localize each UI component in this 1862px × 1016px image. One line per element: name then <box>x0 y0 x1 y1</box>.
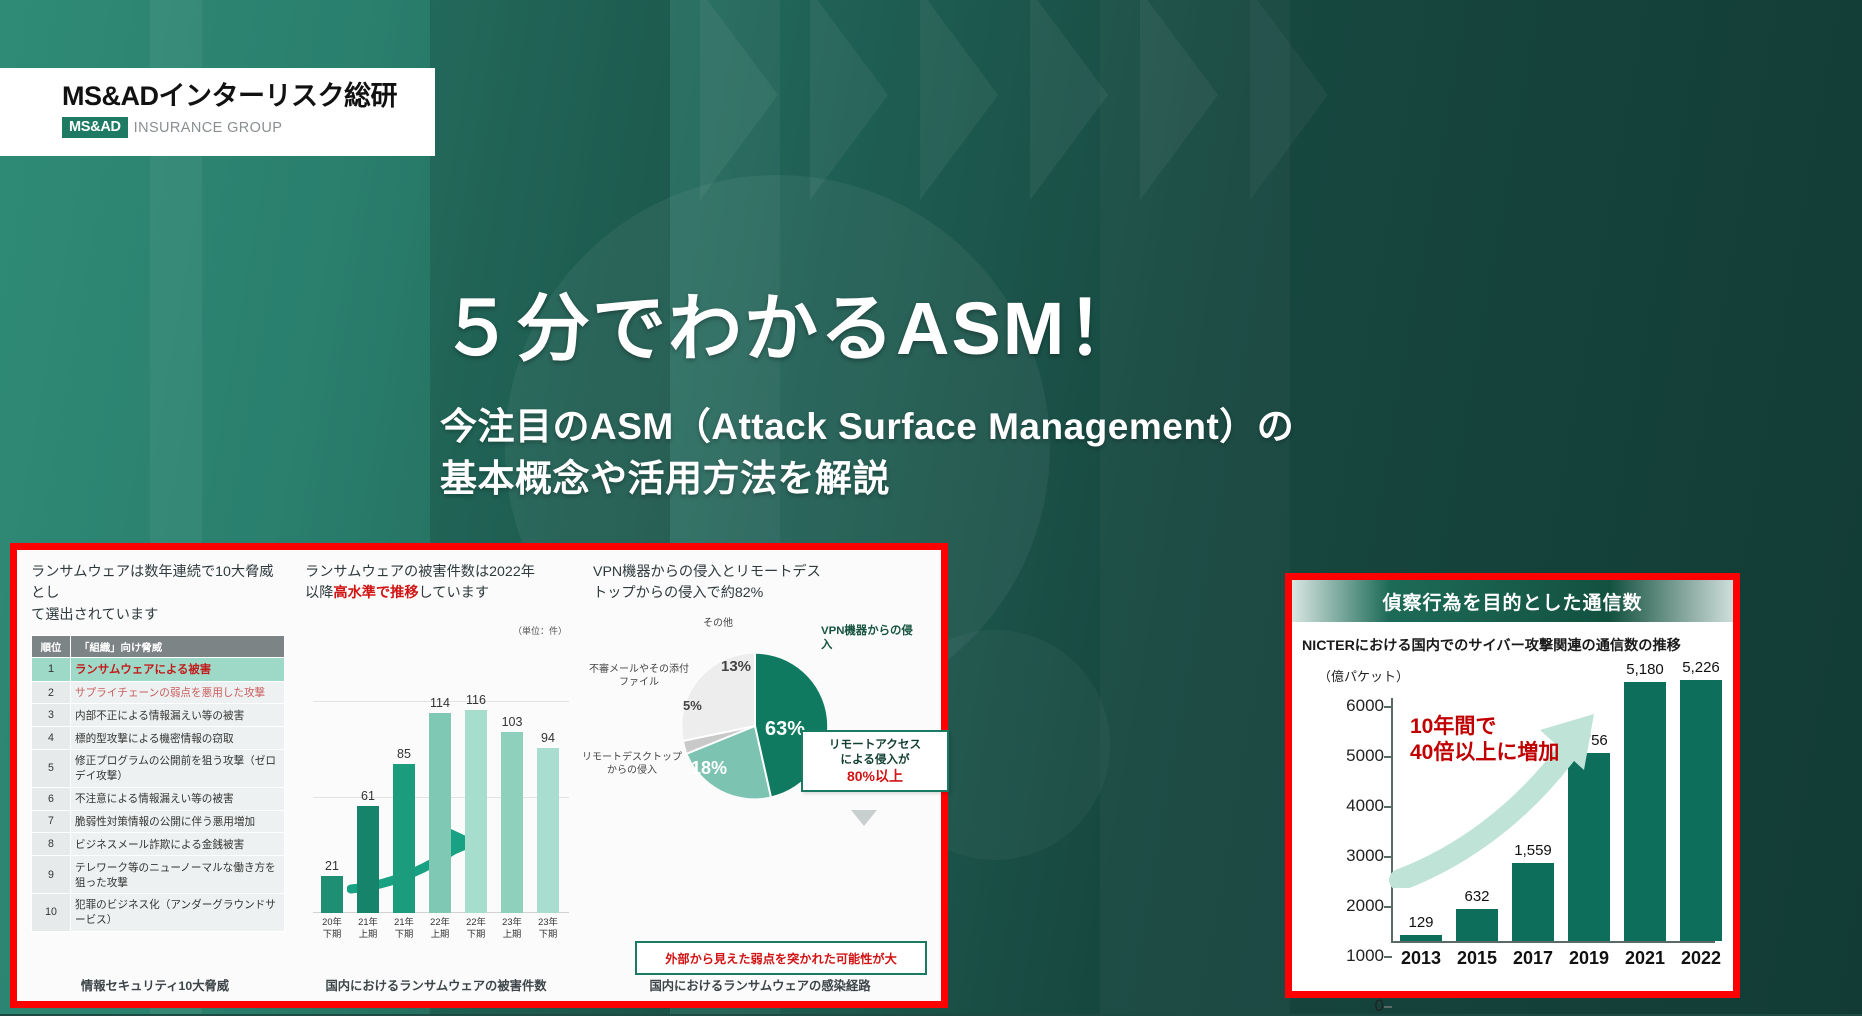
logo-subtitle: MS&AD INSURANCE GROUP <box>62 117 435 138</box>
threat-rank: 6 <box>32 787 71 810</box>
threat-name: 不注意による情報漏えい等の被害 <box>71 787 285 810</box>
threat-name: 内部不正による情報漏えい等の被害 <box>71 704 285 727</box>
nicter-bar <box>1456 909 1498 941</box>
y-axis-tick-label: 2000 <box>1346 896 1384 916</box>
bar-label: 20年下期 <box>322 917 342 940</box>
bar-label: 22年下期 <box>466 917 486 940</box>
pie-chart-plot: 63% 18% 13% 5% その他 不審メールやその添付ファイル リモートデス… <box>579 606 941 949</box>
threat-name: テレワーク等のニューノーマルな働き方を狙った攻撃 <box>71 856 285 894</box>
bar-item: 2120年下期 <box>321 876 343 913</box>
table-header-row: 順位 「組織」向け脅威 <box>32 635 285 657</box>
page-subtitle: 今注目のASM（Attack Surface Management）の 基本概念… <box>440 401 1620 506</box>
threat-name: 犯罪のビジネス化（アンダーグラウンドサービス） <box>71 893 285 931</box>
bar <box>501 732 523 913</box>
nicter-bar <box>1680 680 1722 941</box>
bar-label: 21年下期 <box>394 917 414 940</box>
bar-label: 23年上期 <box>502 917 522 940</box>
nicter-bar <box>1400 935 1442 941</box>
pie-heading: VPN機器からの侵入とリモートデス トップからの侵入で約82% <box>593 562 929 605</box>
y-axis-tick-mark <box>1384 1006 1392 1008</box>
nicter-bar-item: 1292013 <box>1400 935 1442 941</box>
callout-line1: リモートアクセス <box>811 737 939 752</box>
bar <box>429 713 451 913</box>
bar-chart-plot: 2120年下期6121年上期8521年下期11422年上期11622年下期103… <box>307 685 569 943</box>
bar-heading-line1: ランサムウェアの被害件数は2022年 <box>305 562 569 583</box>
bar <box>357 806 379 913</box>
threat-table: 順位 「組織」向け脅威 1ランサムウェアによる被害2サプライチェーンの弱点を悪用… <box>31 635 285 932</box>
nicter-bar-value: 129 <box>1408 914 1433 931</box>
nicter-bar-label: 2021 <box>1625 948 1665 969</box>
col-header-rank: 順位 <box>32 635 71 657</box>
pie-value-5: 5% <box>683 698 702 713</box>
logo-group-text: INSURANCE GROUP <box>134 120 283 136</box>
logo-title: MS&ADインターリスク総研 <box>62 82 435 110</box>
chevron-decor-2 <box>810 0 888 200</box>
threat-rank: 8 <box>32 833 71 856</box>
bar-label: 22年上期 <box>430 917 450 940</box>
bar-item: 11622年下期 <box>465 710 487 913</box>
pie-label-rdp: リモートデスクトップからの侵入 <box>579 752 685 777</box>
pie-value-63: 63% <box>765 718 805 741</box>
table-row: 10犯罪のビジネス化（アンダーグラウンドサービス） <box>32 893 285 931</box>
headline-block: ５分でわかるASM！ 今注目のASM（Attack Surface Manage… <box>440 288 1620 506</box>
bar-label: 23年下期 <box>538 917 558 940</box>
table-row: 3内部不正による情報漏えい等の被害 <box>32 704 285 727</box>
nicter-header-text: 偵察行為を目的とした通信数 <box>1382 588 1642 615</box>
threat-heading-line1: ランサムウェアは数年連続で10大脅威とし <box>31 562 285 605</box>
threat-name: 標的型攻撃による機密情報の窃取 <box>71 727 285 750</box>
threat-rank: 1 <box>32 657 71 681</box>
page-subtitle-line1: 今注目のASM（Attack Surface Management）の <box>440 401 1620 454</box>
table-row: 2サプライチェーンの弱点を悪用した攻撃 <box>32 681 285 704</box>
nicter-bar-item: 6322015 <box>1456 909 1498 941</box>
bar-heading-post: しています <box>419 585 490 601</box>
nicter-header: 偵察行為を目的とした通信数 <box>1292 580 1733 622</box>
bar-heading-line2: 以降高水準で推移しています <box>305 583 569 604</box>
col-header-threat: 「組織」向け脅威 <box>71 635 285 657</box>
threat-rank: 4 <box>32 727 71 750</box>
nicter-bar-label: 2022 <box>1681 948 1721 969</box>
bar-value: 21 <box>325 859 339 873</box>
nicter-bar-value: 5,180 <box>1626 661 1664 678</box>
y-axis-tick-mark <box>1384 906 1392 908</box>
nicter-bar-value: 632 <box>1464 888 1489 905</box>
infection-route-pie-column: VPN機器からの侵入とリモートデス トップからの侵入で約82% 63% 18% <box>579 550 941 1001</box>
threat-caption: 情報セキュリティ10大脅威 <box>17 976 293 994</box>
y-axis-tick-label: 4000 <box>1346 796 1384 816</box>
bar-heading-pre: 以降 <box>305 585 333 601</box>
threat-rank: 10 <box>32 893 71 931</box>
threat-name: 脆弱性対策情報の公開に伴う悪用増加 <box>71 810 285 833</box>
nicter-bar-label: 2013 <box>1401 948 1441 969</box>
bar-value: 114 <box>430 696 450 710</box>
threat-heading-line2: て選出されています <box>31 605 285 626</box>
pie-label-vpn: VPN機器からの侵入 <box>821 624 917 653</box>
chevron-decor-3 <box>920 0 998 200</box>
bar-value: 103 <box>502 715 523 729</box>
table-row: 9テレワーク等のニューノーマルな働き方を狙った攻撃 <box>32 856 285 894</box>
remote-access-callout: リモートアクセス による侵入が 80%以上 <box>801 730 949 792</box>
infographic-panel: ランサムウェアは数年連続で10大脅威とし て選出されています 順位 「組織」向け… <box>10 543 948 1008</box>
threat-ranking-column: ランサムウェアは数年連続で10大脅威とし て選出されています 順位 「組織」向け… <box>17 550 293 1001</box>
pie-heading-line1: VPN機器からの侵入とリモートデス <box>593 562 929 583</box>
weakness-callout: 外部から見えた弱点を突かれた可能性が大 <box>635 941 927 975</box>
nicter-annotation-line2: 40倍以上に増加 <box>1410 740 1559 766</box>
pie-chart-caption: 国内におけるランサムウェアの感染経路 <box>579 976 941 994</box>
threat-heading: ランサムウェアは数年連続で10大脅威とし て選出されています <box>31 562 285 626</box>
bar-heading-highlight: 高水準で推移 <box>333 585 418 601</box>
bar <box>465 710 487 913</box>
bar <box>393 764 415 913</box>
threat-name: ビジネスメール詐欺による金銭被害 <box>71 833 285 856</box>
table-row: 8ビジネスメール詐欺による金銭被害 <box>32 833 285 856</box>
nicter-bar-label: 2015 <box>1457 948 1497 969</box>
threat-rank: 3 <box>32 704 71 727</box>
nicter-bar-label: 2017 <box>1513 948 1553 969</box>
pie-label-other: その他 <box>703 618 733 631</box>
y-axis-tick-label: 0 <box>1375 996 1384 1016</box>
bar-unit-label: （単位：件） <box>513 624 567 637</box>
bar-value: 116 <box>466 693 486 707</box>
nicter-unit-label: （億パケット） <box>1318 666 1733 685</box>
page-subtitle-line2: 基本概念や活用方法を解説 <box>440 453 1620 506</box>
bar-item: 6121年上期 <box>357 806 379 913</box>
callout-line2: による侵入が <box>811 752 939 767</box>
y-axis-tick-mark <box>1384 956 1392 958</box>
pie-heading-line2: トップからの侵入で約82% <box>593 583 929 604</box>
table-row: 1ランサムウェアによる被害 <box>32 657 285 681</box>
bar-value: 94 <box>541 731 555 745</box>
nicter-chart-plot: 10年間で 40倍以上に増加 0100020003000400050006000… <box>1292 698 1725 981</box>
bar <box>321 876 343 913</box>
threat-name: ランサムウェアによる被害 <box>71 657 285 681</box>
y-axis-tick-label: 6000 <box>1346 696 1384 716</box>
bar-item: 11422年上期 <box>429 713 451 913</box>
nicter-subtitle: NICTERにおける国内でのサイバー攻撃関連の通信数の推移 <box>1302 635 1733 655</box>
chevron-decor-1 <box>700 0 778 200</box>
nicter-annotation: 10年間で 40倍以上に増加 <box>1410 714 1559 765</box>
table-row: 7脆弱性対策情報の公開に伴う悪用増加 <box>32 810 285 833</box>
pie-label-mail-text: 不審メールやその添付ファイル <box>589 664 689 688</box>
table-row: 5修正プログラムの公開前を狙う攻撃（ゼロデイ攻撃） <box>32 750 285 788</box>
company-logo: MS&ADインターリスク総研 MS&AD INSURANCE GROUP <box>0 68 435 156</box>
pie-label-rdp-text: リモートデスクトップからの侵入 <box>582 752 682 776</box>
bar-value: 61 <box>361 789 375 803</box>
nicter-bar-label: 2019 <box>1569 948 1609 969</box>
callout-highlight: 80%以上 <box>811 767 939 785</box>
bar-item: 10323年上期 <box>501 732 523 913</box>
chevron-decor-4 <box>1030 0 1108 200</box>
chevron-decor-6 <box>1250 0 1328 200</box>
logo-badge: MS&AD <box>62 117 128 138</box>
pie-value-18: 18% <box>691 758 727 779</box>
callout-arrow-icon <box>851 810 877 826</box>
nicter-panel: 偵察行為を目的とした通信数 NICTERにおける国内でのサイバー攻撃関連の通信数… <box>1285 573 1740 998</box>
bar <box>537 748 559 913</box>
threat-rank: 2 <box>32 681 71 704</box>
pie-value-13: 13% <box>721 658 751 675</box>
bar-item: 9423年下期 <box>537 748 559 913</box>
table-row: 4標的型攻撃による機密情報の窃取 <box>32 727 285 750</box>
pie-label-mail: 不審メールやその添付ファイル <box>585 664 693 689</box>
bar-chart-heading: ランサムウェアの被害件数は2022年 以降高水準で推移しています <box>305 562 569 605</box>
table-row: 6不注意による情報漏えい等の被害 <box>32 787 285 810</box>
threat-rank: 7 <box>32 810 71 833</box>
bar-value: 85 <box>397 747 411 761</box>
nicter-annotation-line1: 10年間で <box>1410 714 1559 740</box>
threat-name: 修正プログラムの公開前を狙う攻撃（ゼロデイ攻撃） <box>71 750 285 788</box>
nicter-x-axis <box>1391 941 1715 943</box>
threat-rank: 5 <box>32 750 71 788</box>
nicter-bar-value: 5,226 <box>1682 659 1720 676</box>
pie-label-vpn-text: VPN機器からの侵入 <box>821 625 913 651</box>
nicter-bar-item: 5,2262022 <box>1680 680 1722 941</box>
y-axis-tick-label: 3000 <box>1346 846 1384 866</box>
threat-rank: 9 <box>32 856 71 894</box>
bar-label: 21年上期 <box>358 917 378 940</box>
threat-name: サプライチェーンの弱点を悪用した攻撃 <box>71 681 285 704</box>
y-axis-tick-label: 1000 <box>1346 946 1384 966</box>
chevron-decor-5 <box>1140 0 1218 200</box>
page-title: ５分でわかるASM！ <box>440 288 1620 371</box>
ransomware-bar-chart-column: ランサムウェアの被害件数は2022年 以降高水準で推移しています （単位：件） … <box>293 550 579 1001</box>
bar-chart-caption: 国内におけるランサムウェアの被害件数 <box>293 976 579 994</box>
bar-item: 8521年下期 <box>393 764 415 913</box>
y-axis-tick-label: 5000 <box>1346 746 1384 766</box>
